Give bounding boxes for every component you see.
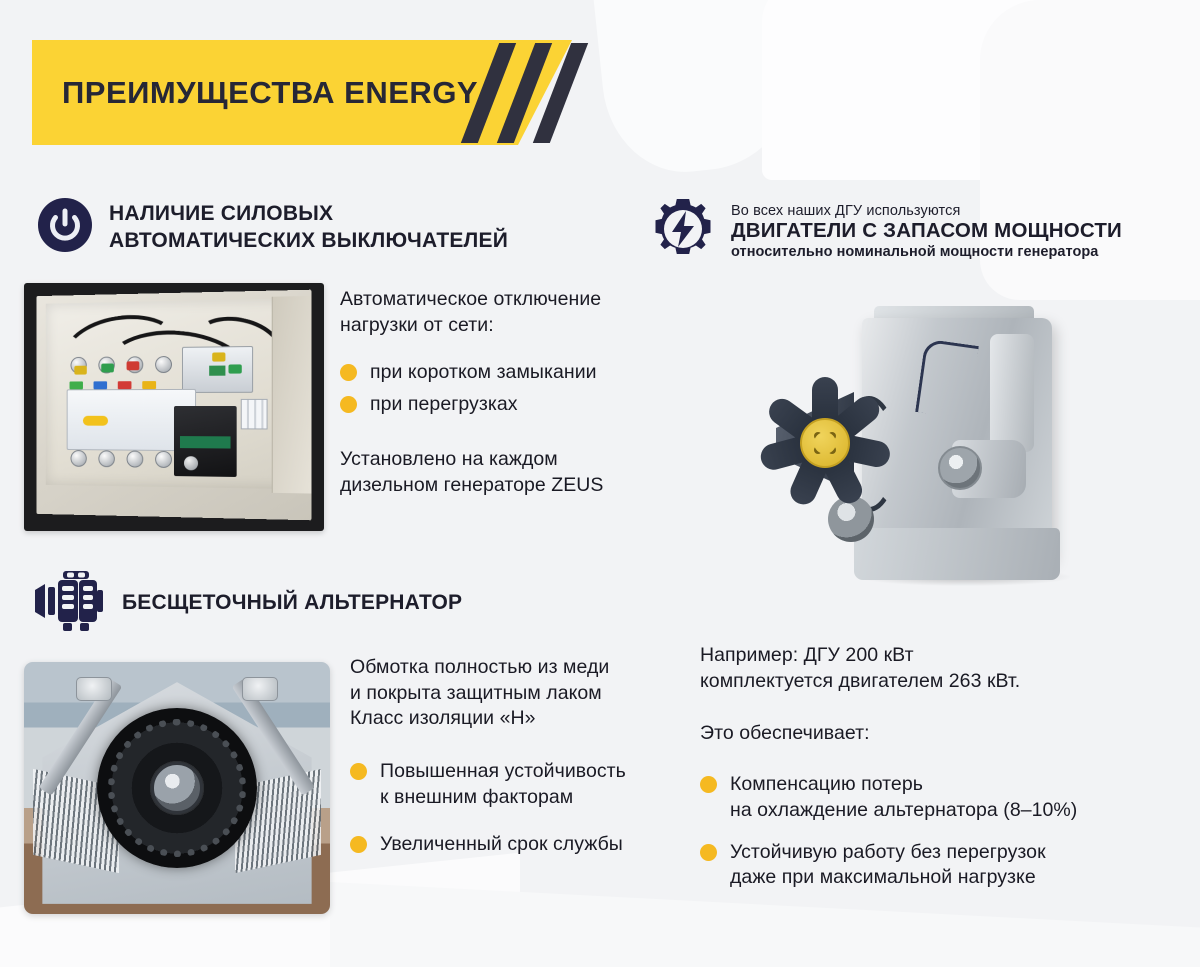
cable-lug [127,361,140,370]
rotor-hub [151,762,203,814]
list-item-label: Повышенная устойчивость к внешним фактор… [380,759,626,810]
section-header-engine: Во всех наших ДГУ используются ДВИГАТЕЛИ… [652,198,1200,265]
cable-lug [212,352,225,361]
breakers-bullet-list: при коротком замыкании при перегрузках [340,360,670,417]
mini-breaker [241,399,268,430]
cooling-fan [750,368,900,518]
phase-tag [70,381,83,389]
alternator-bullet-list: Повышенная устойчивость к внешним фактор… [350,759,680,857]
mount-cap [76,677,112,701]
cable-lug [228,364,241,373]
list-item-label: Увеличенный срок службы [380,832,623,857]
power-button-icon [38,198,92,257]
cable-lug [74,366,86,375]
text-block-alternator: Обмотка полностью из меди и покрыта защи… [350,655,680,857]
mount-cap [242,677,278,701]
terminal-knob [155,451,172,468]
engine-intro: Например: ДГУ 200 кВт комплектуется двиг… [700,643,1180,694]
engine-heading-group: Во всех наших ДГУ используются ДВИГАТЕЛИ… [731,202,1200,261]
engine-bullet-list: Компенсацию потерь на охлаждение альтерн… [700,772,1180,890]
photo-alternator-rotor [24,662,330,914]
cable-lug [101,363,114,372]
ats-controller [174,406,237,477]
photo-electrical-cabinet [24,283,324,531]
cabinet-interior [46,298,289,489]
header-banner: ПРЕИМУЩЕСТВА ENERGY [32,40,572,145]
bullet-dot-icon [340,396,357,413]
list-item: Компенсацию потерь на охлаждение альтерн… [700,772,1180,823]
engine-pre-title: Во всех наших ДГУ используются [731,203,960,219]
phase-tag [94,381,108,389]
text-block-engine: Например: ДГУ 200 кВт комплектуется двиг… [700,643,1180,891]
bullet-dot-icon [350,836,367,853]
oil-filter-cylinder [990,334,1034,452]
text-block-breakers: Автоматическое отключение нагрузки от се… [340,287,670,499]
section-title-alternator: БЕСЩЕТОЧНЫЙ АЛЬТЕРНАТОР [122,590,462,617]
cabinet-frame [36,290,311,521]
phase-tag [142,381,156,389]
terminal-knob [70,450,86,467]
list-item: Устойчивую работу без перегрузок даже пр… [700,840,1180,891]
fan-hub [800,418,850,468]
list-item-label: Устойчивую работу без перегрузок даже пр… [730,840,1046,891]
engine-subhead: Это обеспечивает: [700,721,1180,747]
section-header-breakers: НАЛИЧИЕ СИЛОВЫХ АВТОМАТИЧЕСКИХ ВЫКЛЮЧАТЕ… [38,198,508,257]
cabinet-door [272,296,312,494]
list-item: Увеличенный срок службы [350,832,680,857]
list-item-label: Компенсацию потерь на охлаждение альтерн… [730,772,1077,823]
breakers-tail: Установлено на каждом дизельном генерато… [340,447,670,498]
list-item-label: при перегрузках [370,392,518,417]
engine-post-title: относительно номинальной мощности генера… [731,244,1098,260]
list-item-label: при коротком замыкании [370,360,597,385]
gear-bolt-icon [652,198,714,265]
section-title-breakers: НАЛИЧИЕ СИЛОВЫХ АВТОМАТИЧЕСКИХ ВЫКЛЮЧАТЕ… [109,201,508,255]
terminal-knob [98,450,114,467]
page-title: ПРЕИМУЩЕСТВА ENERGY [62,75,478,111]
infographic-page: ПРЕИМУЩЕСТВА ENERGY НАЛИЧИЕ СИЛОВЫХ АВТО… [0,0,1200,967]
section-title-engine: ДВИГАТЕЛИ С ЗАПАСОМ МОЩНОСТИ [731,219,1122,242]
bullet-dot-icon [700,844,717,861]
bullet-dot-icon [350,763,367,780]
list-item: при коротком замыкании [340,360,670,385]
terminal-row-bottom [70,450,171,468]
photo-diesel-engine [742,300,1162,590]
bullet-dot-icon [340,364,357,381]
bg-shape-e [330,882,1200,967]
section-header-alternator: БЕСЩЕТОЧНЫЙ АЛЬТЕРНАТОР [33,570,462,637]
engine-pulley [938,446,982,490]
breakers-intro: Автоматическое отключение нагрузки от се… [340,287,670,338]
engine-oil-sump [854,528,1060,580]
phase-tag [118,381,132,389]
rotor-winding [97,708,257,868]
wiring-harness [915,339,979,420]
bullet-dot-icon [700,776,717,793]
list-item: при перегрузках [340,392,670,417]
terminal-knob [127,451,144,468]
phase-tag-row [70,381,157,389]
alternator-intro: Обмотка полностью из меди и покрыта защи… [350,655,680,732]
terminal-knob [155,356,172,373]
alternator-icon [33,570,105,637]
list-item: Повышенная устойчивость к внешним фактор… [350,759,680,810]
